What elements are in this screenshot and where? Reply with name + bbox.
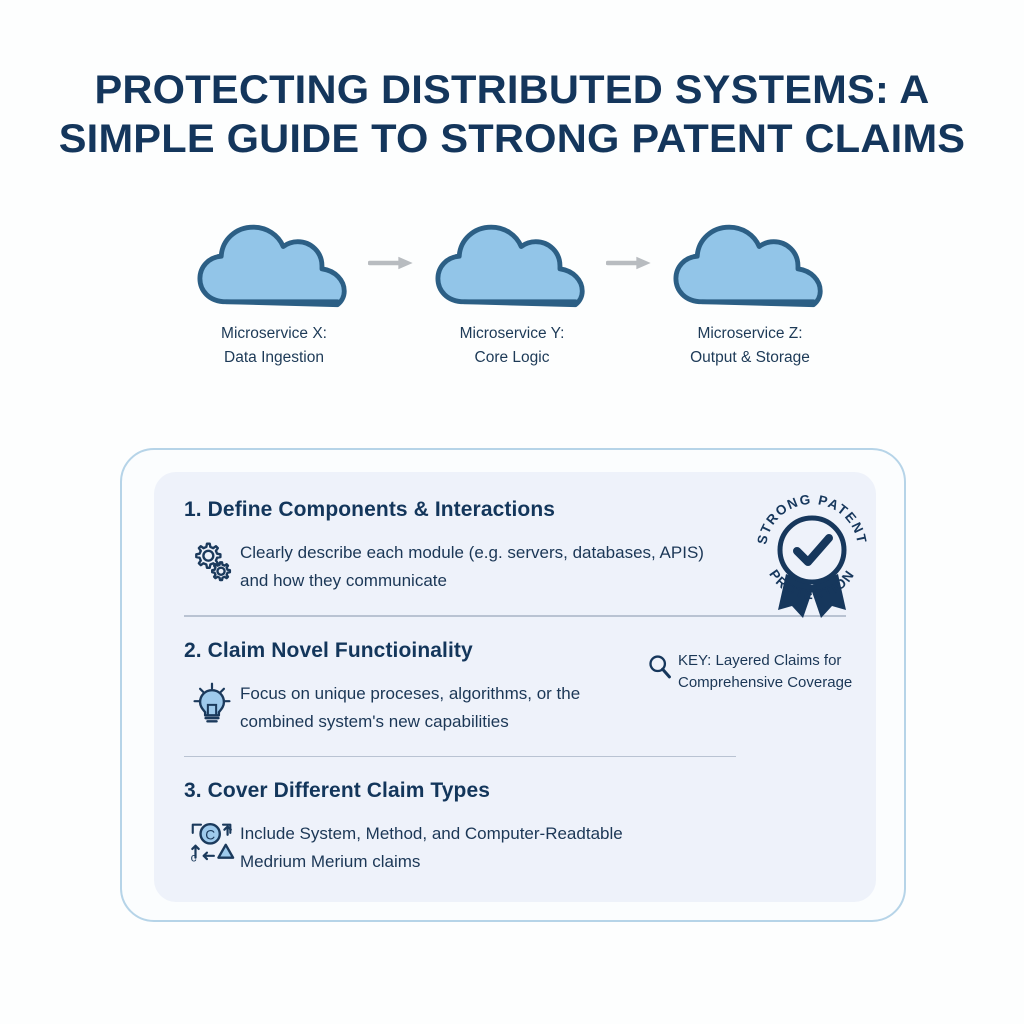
step-2-text-line-1: Focus on unique proceses, algorithms, or… bbox=[240, 680, 580, 708]
title-line-1: PROTECTING DISTRIBUTED SYSTEMS: A bbox=[42, 66, 982, 115]
guide-card: 1. Define Components & Interactions bbox=[120, 448, 906, 922]
node-label-line-2: Output & Storage bbox=[690, 346, 810, 370]
arrow-right-icon bbox=[600, 218, 662, 308]
pipeline-node-x: Microservice X: Data Ingestion bbox=[186, 218, 362, 370]
step-1-text-line-2: and how they communicate bbox=[240, 567, 704, 595]
node-label-line-1: Microservice Z: bbox=[690, 322, 810, 346]
key-note: KEY: Layered Claims for Comprehensive Co… bbox=[646, 650, 882, 694]
step-3-text: Include System, Method, and Computer-Rea… bbox=[240, 819, 623, 876]
cloud-icon bbox=[673, 218, 828, 308]
magnifier-icon bbox=[646, 650, 678, 685]
step-3: 3. Cover Different Claim Types C bbox=[184, 779, 846, 876]
step-3-title: 3. Cover Different Claim Types bbox=[184, 779, 846, 803]
pipeline-node-z: Microservice Z: Output & Storage bbox=[662, 218, 838, 370]
lightbulb-icon bbox=[184, 679, 240, 725]
guide-card-panel: 1. Define Components & Interactions bbox=[154, 472, 876, 902]
step-3-text-line-2: Medrium Merium claims bbox=[240, 848, 623, 876]
key-note-line-1: KEY: Layered Claims for bbox=[678, 650, 852, 672]
node-label-line-2: Data Ingestion bbox=[221, 346, 327, 370]
step-3-text-line-1: Include System, Method, and Computer-Rea… bbox=[240, 820, 623, 848]
step-3-body: C c Include System, Method, and Computer… bbox=[184, 819, 846, 876]
pipeline-node-y: Microservice Y: Core Logic bbox=[424, 218, 600, 370]
node-label-line-1: Microservice X: bbox=[221, 322, 327, 346]
title-line-2: SIMPLE GUIDE TO STRONG PATENT CLAIMS bbox=[42, 115, 982, 164]
pipeline-node-y-label: Microservice Y: Core Logic bbox=[460, 322, 565, 370]
svg-text:C: C bbox=[205, 827, 215, 842]
pipeline-node-z-label: Microservice Z: Output & Storage bbox=[690, 322, 810, 370]
step-2-text: Focus on unique proceses, algorithms, or… bbox=[240, 679, 580, 736]
arrow-right-icon bbox=[362, 218, 424, 308]
svg-text:c: c bbox=[191, 850, 197, 864]
cloud-icon bbox=[435, 218, 590, 308]
node-label-line-1: Microservice Y: bbox=[460, 322, 565, 346]
step-1-text: Clearly describe each module (e.g. serve… bbox=[240, 538, 704, 595]
key-note-text: KEY: Layered Claims for Comprehensive Co… bbox=[678, 650, 852, 694]
patent-seal-icon: STRONG PATENT PROTECTION bbox=[746, 482, 878, 630]
gears-icon bbox=[184, 538, 240, 582]
pipeline-node-x-label: Microservice X: Data Ingestion bbox=[221, 322, 327, 370]
page-title: PROTECTING DISTRIBUTED SYSTEMS: A SIMPLE… bbox=[60, 66, 964, 164]
svg-text:PROTECTION: PROTECTION bbox=[766, 567, 857, 602]
microservice-pipeline: Microservice X: Data Ingestion Microserv… bbox=[186, 218, 838, 383]
step-2-text-line-2: combined system's new capabilities bbox=[240, 708, 580, 736]
node-label-line-2: Core Logic bbox=[460, 346, 565, 370]
infographic-page: PROTECTING DISTRIBUTED SYSTEMS: A SIMPLE… bbox=[0, 0, 1024, 1024]
copyright-media-icon: C c bbox=[184, 819, 240, 865]
step-1-text-line-1: Clearly describe each module (e.g. serve… bbox=[240, 539, 704, 567]
cloud-icon bbox=[197, 218, 352, 308]
key-note-line-2: Comprehensive Coverage bbox=[678, 672, 852, 694]
badge-text-bottom: PROTECTION bbox=[766, 567, 857, 602]
divider-2 bbox=[184, 756, 736, 758]
